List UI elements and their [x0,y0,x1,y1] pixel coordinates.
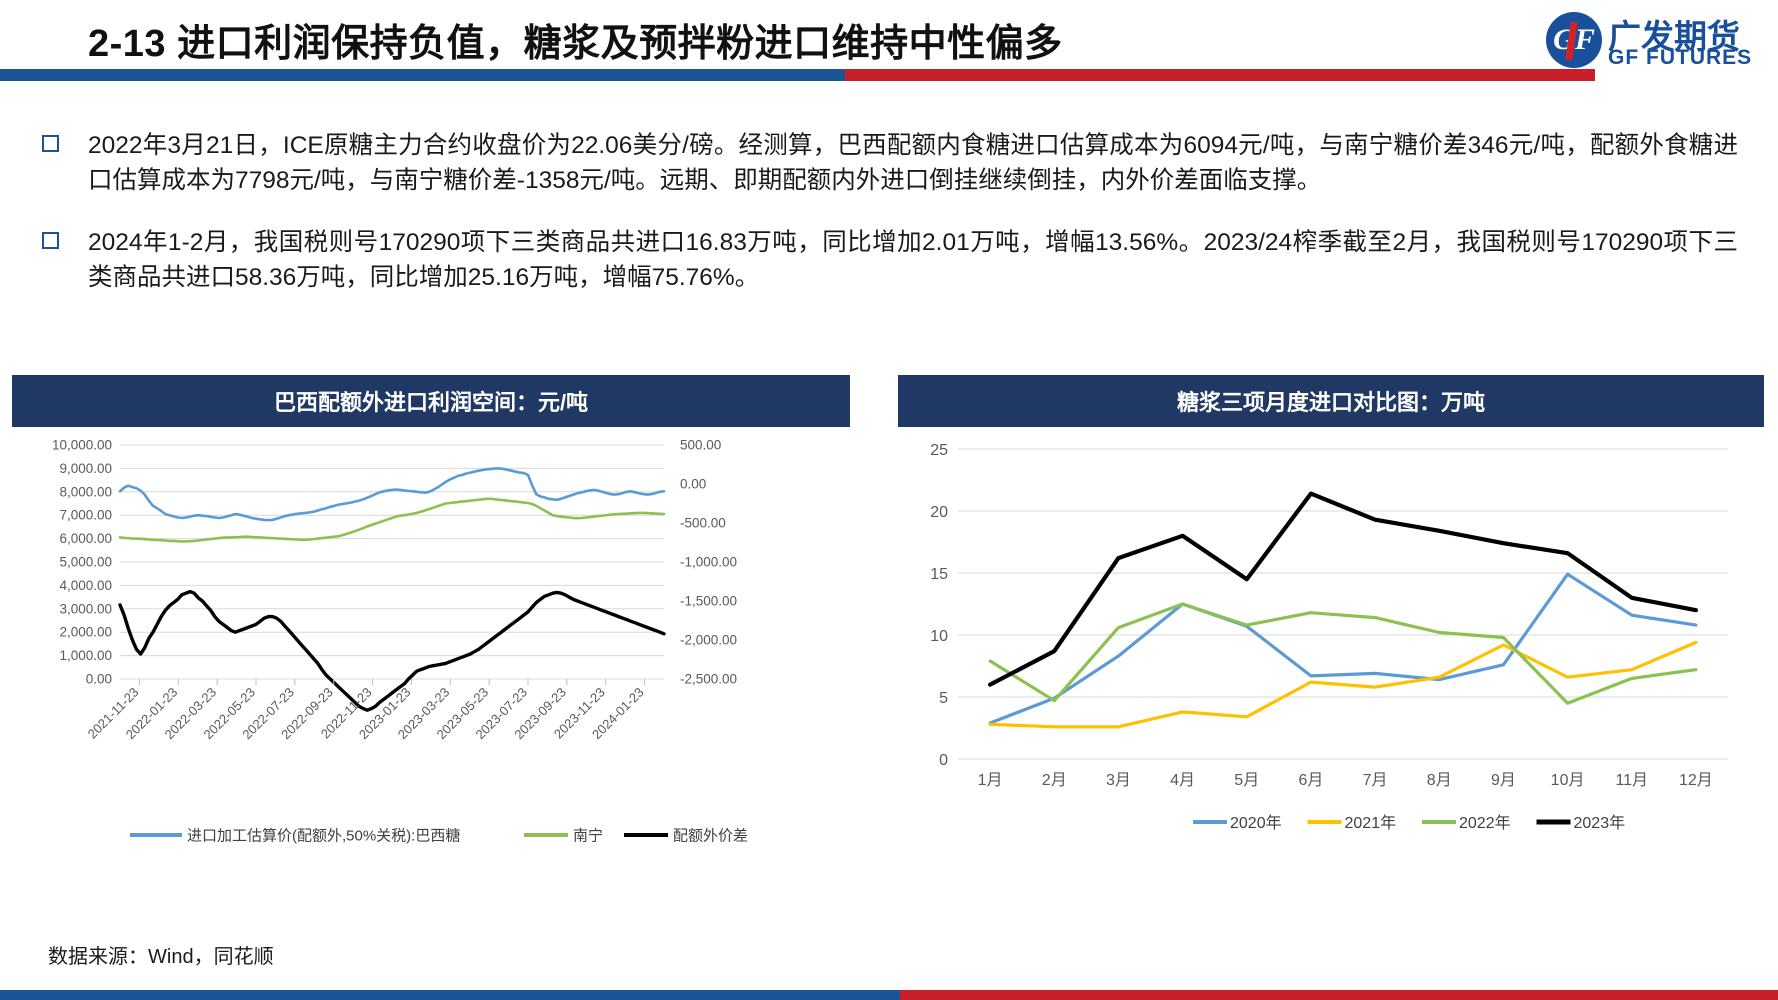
x-axis-tick-label: 9月 [1491,772,1516,789]
legend-label: 2023年 [1574,814,1626,832]
chart-title-right: 糖浆三项月度进口对比图：万吨 [898,375,1764,427]
y-axis-right-tick-label: -2,500.00 [680,672,737,687]
company-logo: GF 广发期货 GF FUTURES [1546,10,1756,72]
logo-company-name-en: GF FUTURES [1608,46,1752,70]
x-axis-tick-label: 3月 [1106,772,1131,789]
chart-title-left: 巴西配额外进口利润空间：元/吨 [12,375,850,427]
y-axis-tick-label: 5 [939,690,948,707]
data-source-note: 数据来源：Wind，同花顺 [48,940,274,969]
y-axis-left-tick-label: 6,000.00 [59,531,112,546]
page-header: 2-13 进口利润保持负值，糖浆及预拌粉进口维持中性偏多 GF 广发期货 GF … [0,0,1778,80]
x-axis-tick-label: 2月 [1042,772,1067,789]
y-axis-left-tick-label: 1,000.00 [59,648,112,663]
y-axis-tick-label: 25 [930,442,948,459]
chart-series-line [120,468,664,520]
legend-label: 2020年 [1230,814,1282,832]
y-axis-left-tick-label: 7,000.00 [59,508,112,523]
line-chart-brazil-import-profit: 10,000.009,000.008,000.007,000.006,000.0… [12,427,850,885]
chart-panel-brazil-import-profit: 巴西配额外进口利润空间：元/吨 10,000.009,000.008,000.0… [12,375,850,885]
header-rule-blue [0,69,845,81]
chart-panel-syrup-monthly-import: 糖浆三项月度进口对比图：万吨 05101520251月2月3月4月5月6月7月8… [898,375,1764,885]
gf-logo-mark-icon: GF [1546,12,1602,68]
x-axis-tick-label: 1月 [978,772,1003,789]
y-axis-left-tick-label: 0.00 [86,672,112,687]
bullet-list: 2022年3月21日，ICE原糖主力合约收盘价为22.06美分/磅。经测算，巴西… [0,128,1778,321]
chart-series-line [990,574,1696,723]
footer-rule-red [900,990,1778,1000]
y-axis-right-tick-label: 500.00 [680,438,721,453]
x-axis-tick-label: 6月 [1298,772,1323,789]
y-axis-right-tick-label: -1,000.00 [680,555,737,570]
legend-label: 进口加工估算价(配额外,50%关税):巴西糖 [187,827,460,845]
square-bullet-icon [42,135,59,152]
x-axis-tick-label: 7月 [1363,772,1388,789]
y-axis-right-tick-label: -1,500.00 [680,594,737,609]
y-axis-left-tick-label: 3,000.00 [59,601,112,616]
y-axis-right-tick-label: 0.00 [680,477,706,492]
legend-label: 2022年 [1459,814,1511,832]
chart-body-left: 10,000.009,000.008,000.007,000.006,000.0… [12,427,850,885]
x-axis-tick-label: 10月 [1551,772,1585,789]
y-axis-left-tick-label: 10,000.00 [52,438,112,453]
x-axis-tick-label: 4月 [1170,772,1195,789]
list-item: 2024年1-2月，我国税则号170290项下三类商品共进口16.83万吨，同比… [0,225,1778,296]
y-axis-right-tick-label: -2,000.00 [680,633,737,648]
x-axis-tick-label: 11月 [1615,772,1648,789]
y-axis-left-tick-label: 5,000.00 [59,555,112,570]
chart-series-line [990,604,1696,703]
square-bullet-icon [42,232,59,249]
legend-label: 配额外价差 [673,828,748,845]
y-axis-left-tick-label: 9,000.00 [59,461,112,476]
legend-label: 2021年 [1345,814,1397,832]
bullet-text: 2024年1-2月，我国税则号170290项下三类商品共进口16.83万吨，同比… [88,225,1778,296]
header-rule-red [845,69,1595,81]
y-axis-left-tick-label: 4,000.00 [59,578,112,593]
y-axis-tick-label: 0 [939,752,948,769]
y-axis-left-tick-label: 8,000.00 [59,484,112,499]
footer-rule [0,990,1778,1000]
y-axis-left-tick-label: 2,000.00 [59,625,112,640]
y-axis-tick-label: 10 [930,628,948,645]
x-axis-tick-label: 8月 [1427,772,1452,789]
x-axis-tick-label: 5月 [1234,772,1259,789]
chart-body-right: 05101520251月2月3月4月5月6月7月8月9月10月11月12月202… [898,427,1764,885]
legend-label: 南宁 [573,828,603,845]
page-title: 2-13 进口利润保持负值，糖浆及预拌粉进口维持中性偏多 [88,12,1063,67]
line-chart-syrup-monthly-import: 05101520251月2月3月4月5月6月7月8月9月10月11月12月202… [898,427,1764,885]
y-axis-right-tick-label: -500.00 [680,516,726,531]
list-item: 2022年3月21日，ICE原糖主力合约收盘价为22.06美分/磅。经测算，巴西… [0,128,1778,199]
y-axis-tick-label: 20 [930,504,948,521]
y-axis-tick-label: 15 [930,566,948,583]
chart-series-line [120,499,664,542]
footer-rule-blue [0,990,900,1000]
bullet-text: 2022年3月21日，ICE原糖主力合约收盘价为22.06美分/磅。经测算，巴西… [88,128,1778,199]
x-axis-tick-label: 12月 [1679,772,1713,789]
